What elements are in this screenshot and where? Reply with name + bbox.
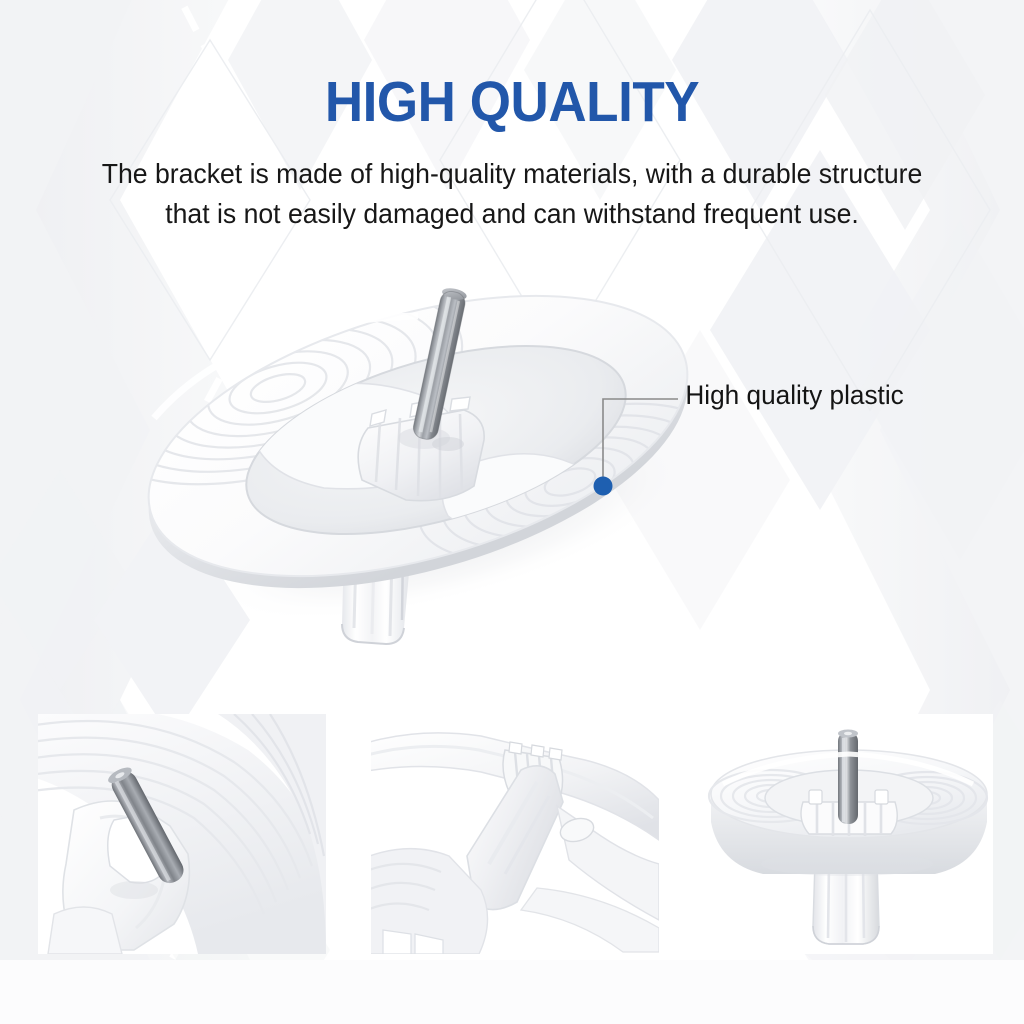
- detail-panel-underside-art: [371, 714, 659, 954]
- infographic-page: HIGH QUALITY The bracket is made of high…: [0, 0, 1024, 1024]
- detail-panel-side-profile-art: [705, 714, 993, 954]
- callout-leader-line: [603, 399, 678, 486]
- subtitle-line-2: that is not easily damaged and can withs…: [56, 194, 968, 234]
- detail-panel-pin-art: [38, 714, 326, 954]
- p3-metal-pin: [838, 730, 858, 825]
- page-title: HIGH QUALITY: [36, 0, 988, 131]
- page-subtitle: The bracket is made of high-quality mate…: [56, 131, 968, 234]
- dot-marker-icon: [594, 477, 613, 496]
- detail-panels-row: [0, 700, 1024, 970]
- header-block: HIGH QUALITY The bracket is made of high…: [0, 0, 1024, 234]
- callout-high-quality-plastic: High quality plastic: [560, 370, 1020, 510]
- callout-label: High quality plastic: [685, 382, 903, 409]
- detail-panel-side-profile: [705, 714, 993, 954]
- detail-panel-underside: [371, 714, 659, 954]
- detail-panel-pin: [38, 714, 326, 954]
- subtitle-line-1: The bracket is made of high-quality mate…: [56, 154, 968, 194]
- pin-base-shadow: [432, 437, 464, 451]
